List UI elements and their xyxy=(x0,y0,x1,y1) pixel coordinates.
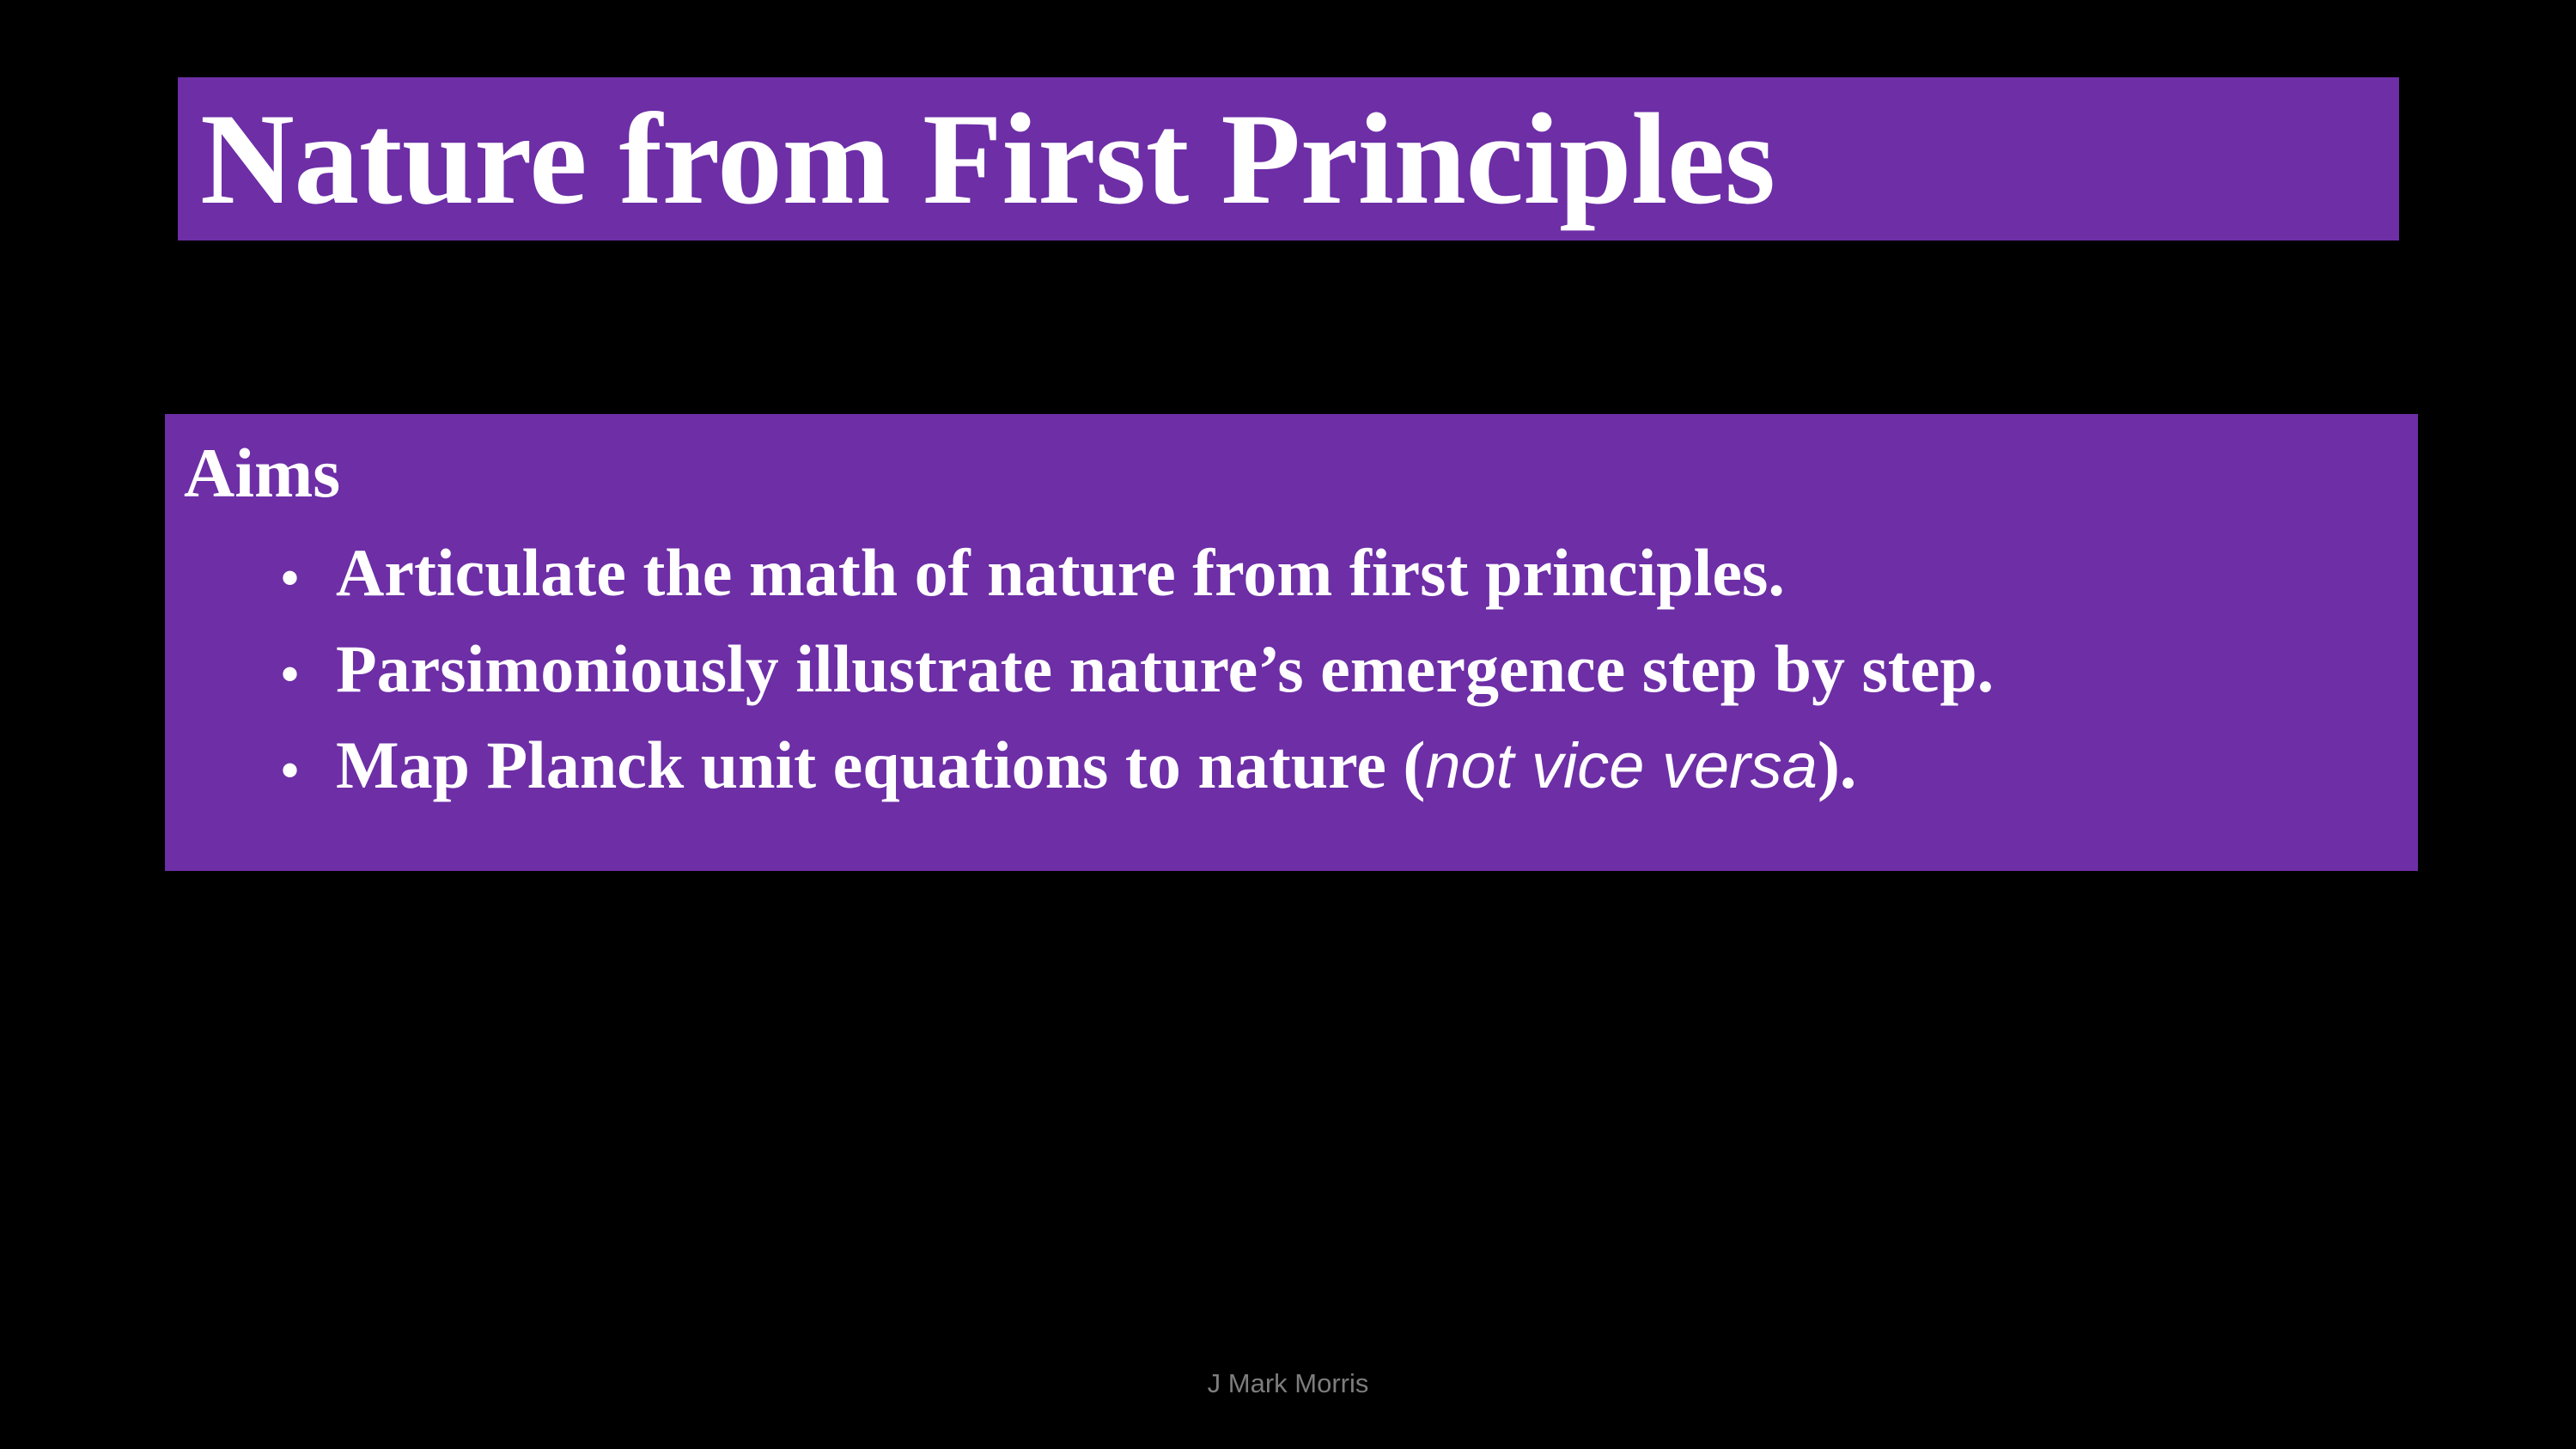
aims-bullet-list: • Articulate the math of nature from fir… xyxy=(165,527,2418,816)
list-item: • Parsimoniously illustrate nature’s eme… xyxy=(165,624,2418,720)
list-item-text: Articulate the math of nature from first… xyxy=(336,527,1785,618)
bullet-icon: • xyxy=(281,726,336,816)
list-item: • Map Planck unit equations to nature (n… xyxy=(165,720,2418,816)
aims-content-box: Aims • Articulate the math of nature fro… xyxy=(165,414,2418,871)
bullet-icon: • xyxy=(281,533,336,624)
aims-heading: Aims xyxy=(184,438,2418,508)
title-banner: Nature from First Principles xyxy=(178,77,2399,240)
slide-canvas: Nature from First Principles Aims • Arti… xyxy=(0,0,2576,1449)
footer-author: J Mark Morris xyxy=(0,1367,2576,1400)
list-item-tail: ). xyxy=(1818,728,1856,802)
list-item-lead: Map Planck unit equations to nature ( xyxy=(336,728,1425,802)
list-item: • Articulate the math of nature from fir… xyxy=(165,527,2418,624)
bullet-icon: • xyxy=(281,630,336,720)
list-item-lead: Articulate the math of nature from first… xyxy=(336,535,1785,610)
list-item-lead: Parsimoniously illustrate nature’s emerg… xyxy=(336,631,1994,706)
page-title: Nature from First Principles xyxy=(200,94,1775,224)
list-item-text: Map Planck unit equations to nature (not… xyxy=(336,720,1856,811)
list-item-text: Parsimoniously illustrate nature’s emerg… xyxy=(336,624,1994,715)
list-item-emphasis: not vice versa xyxy=(1425,730,1818,801)
